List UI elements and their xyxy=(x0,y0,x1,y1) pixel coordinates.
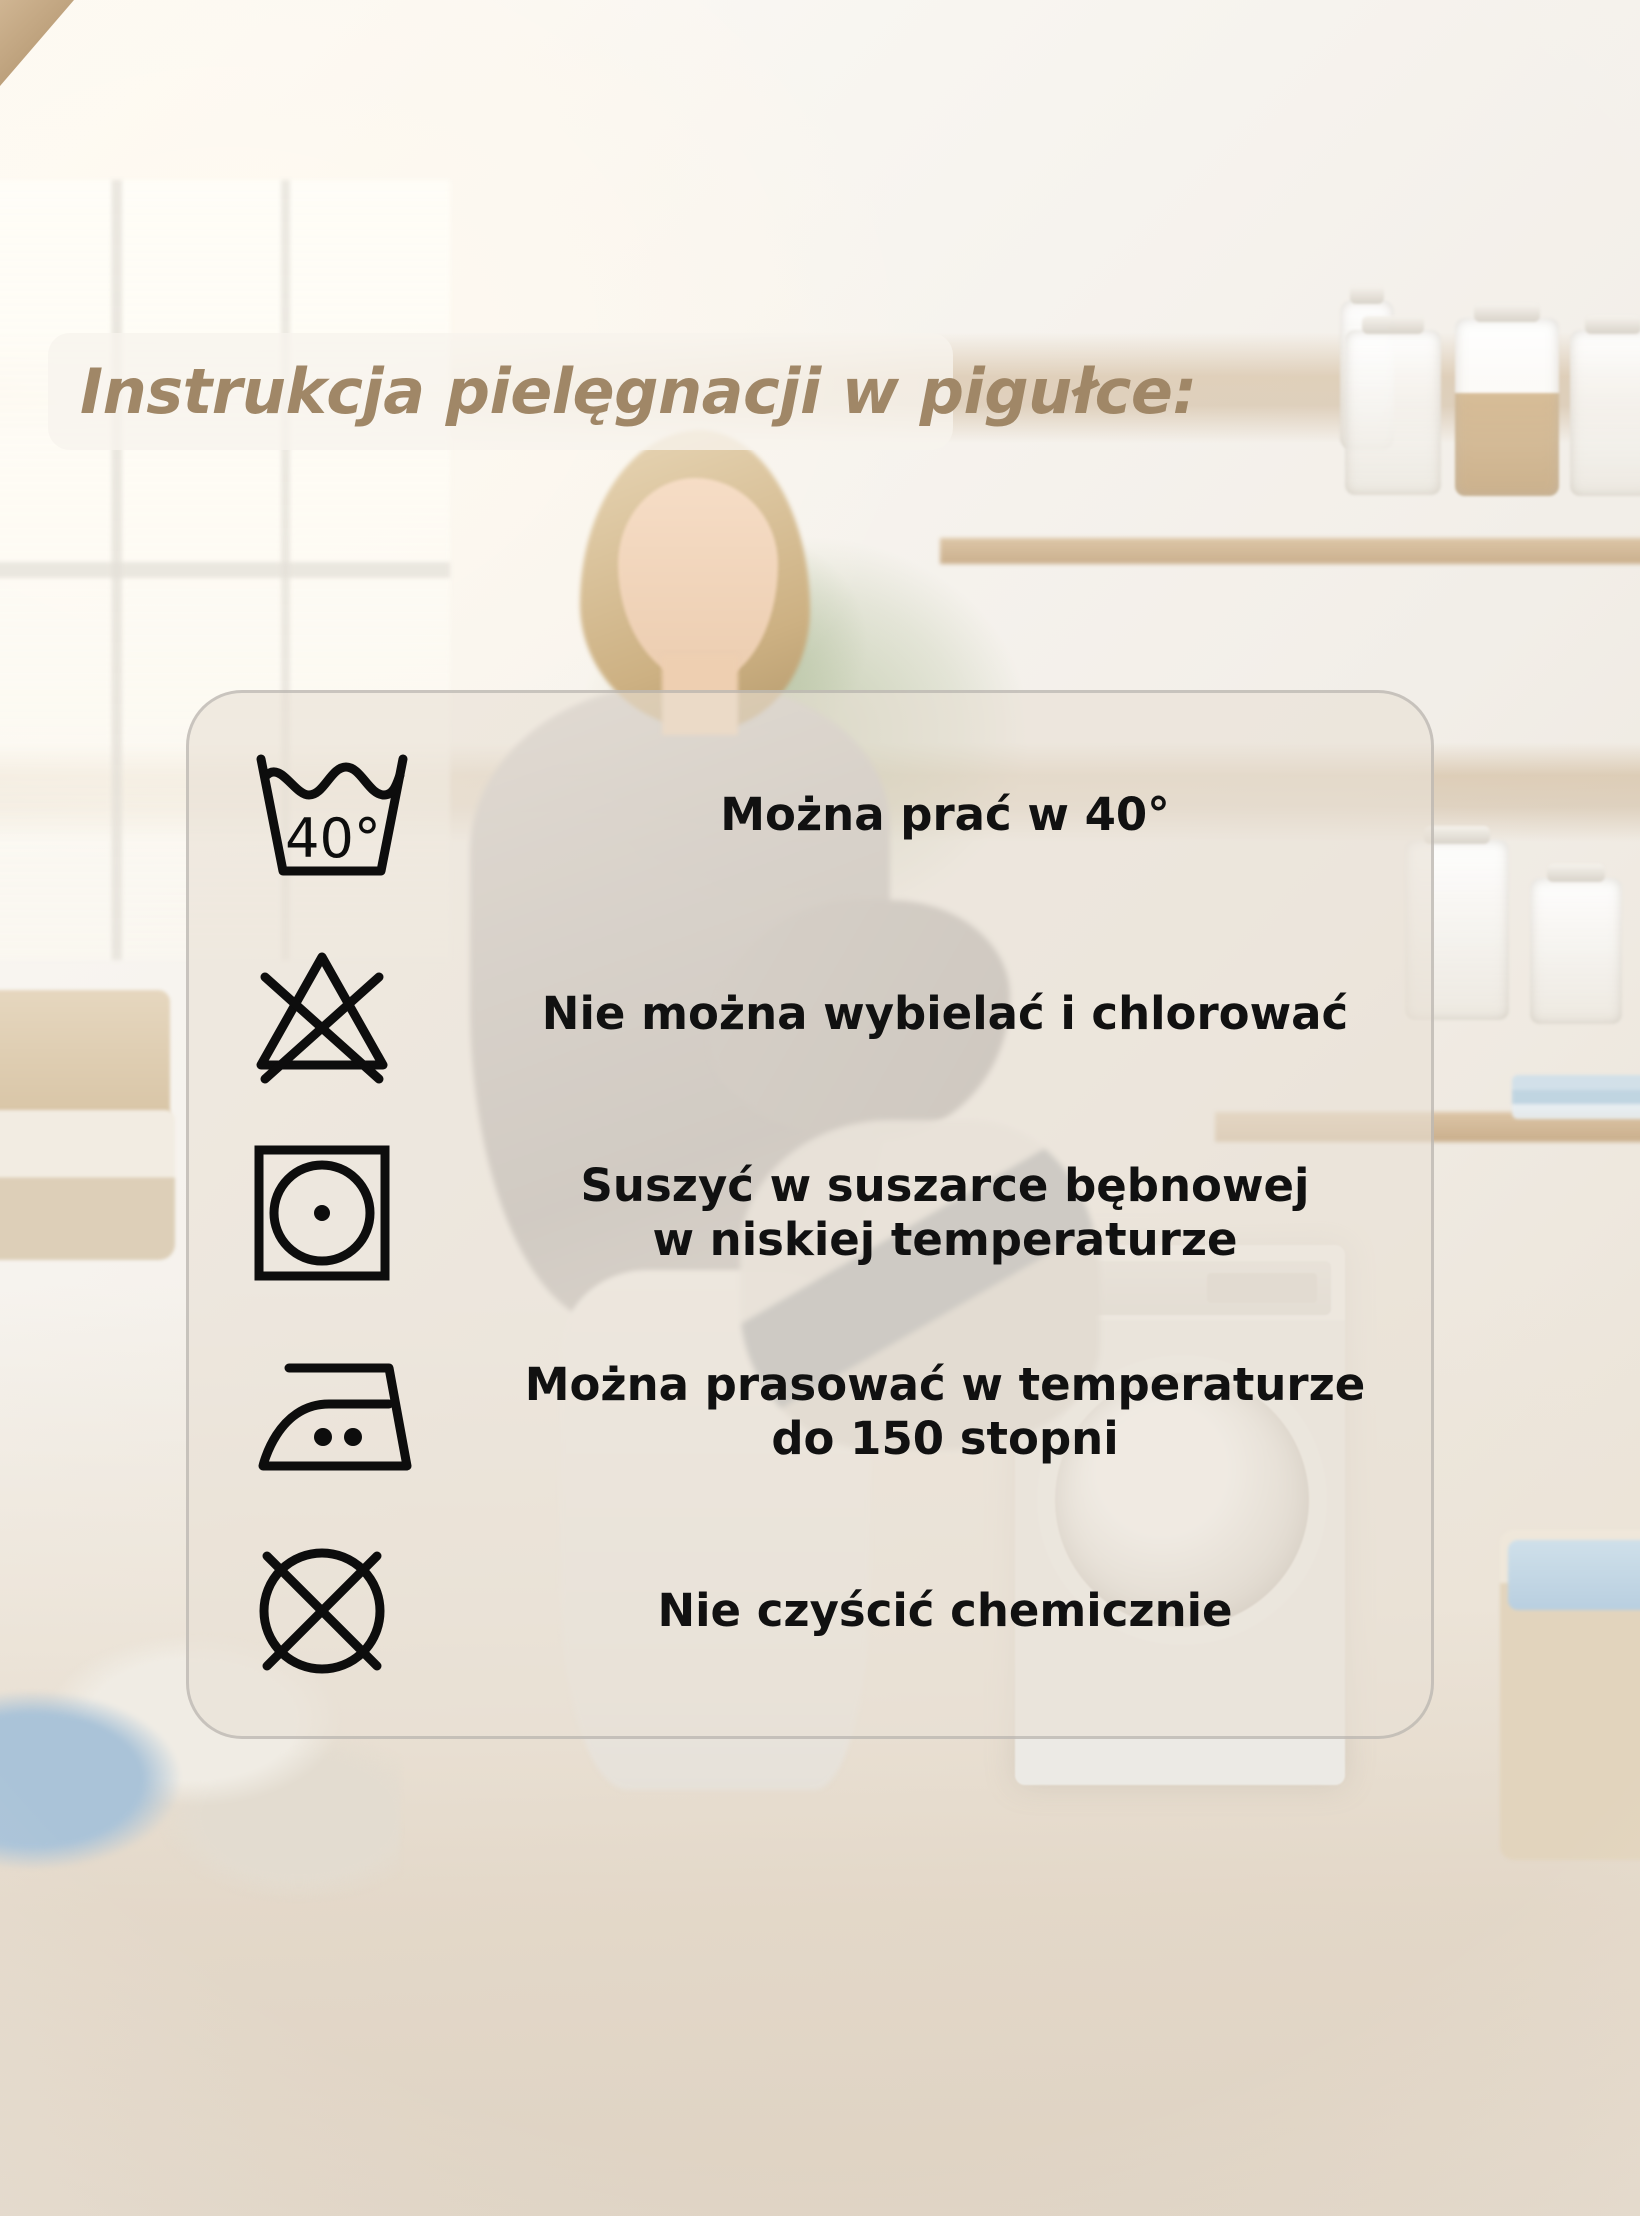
care-label-cell: Można prasować w temperaturze do 150 sto… xyxy=(499,1358,1391,1464)
care-icon-cell xyxy=(229,1138,499,1288)
tumble-dry-low-icon xyxy=(247,1138,397,1288)
care-row: Nie można wybielać i chlorować xyxy=(229,930,1391,1098)
care-icon-cell: 40° xyxy=(229,745,499,885)
care-row: Suszyć w suszarce bębnowej w niskiej tem… xyxy=(229,1129,1391,1297)
page-title: Instrukcja pielęgnacji w pigułce: xyxy=(80,355,1197,428)
storage-jar xyxy=(1455,318,1559,496)
laundry-basket-left xyxy=(0,1110,175,1260)
care-label-cell: Suszyć w suszarce bębnowej w niskiej tem… xyxy=(499,1159,1391,1265)
care-rows: 40° Można prać w 40° Nie można w xyxy=(189,693,1431,1736)
care-instructions-poster: Instrukcja pielęgnacji w pigułce: 40° Mo… xyxy=(0,0,1640,2216)
care-label: Można prać w 40° xyxy=(720,788,1169,841)
care-label-cell: Nie można wybielać i chlorować xyxy=(499,987,1391,1040)
storage-jar xyxy=(1570,330,1640,496)
folded-towels xyxy=(1512,1075,1640,1119)
care-label: Suszyć w suszarce bębnowej w niskiej tem… xyxy=(581,1159,1310,1265)
care-label: Można prasować w temperaturze do 150 sto… xyxy=(525,1358,1366,1464)
care-label: Nie czyścić chemicznie xyxy=(657,1584,1232,1637)
title-plate: Instrukcja pielęgnacji w pigułce: xyxy=(48,333,953,450)
care-symbols-panel: 40° Można prać w 40° Nie można w xyxy=(186,690,1434,1739)
storage-jar xyxy=(1530,878,1622,1024)
wash-tub-40-icon: 40° xyxy=(247,745,417,885)
care-row: Nie czyścić chemicznie xyxy=(229,1527,1391,1695)
do-not-bleach-icon xyxy=(247,939,397,1089)
care-label-cell: Nie czyścić chemicznie xyxy=(499,1584,1391,1637)
care-icon-cell xyxy=(229,1536,499,1686)
care-label-cell: Można prać w 40° xyxy=(499,788,1391,841)
care-row: 40° Można prać w 40° xyxy=(229,731,1391,899)
iron-two-dots-icon xyxy=(247,1342,427,1482)
care-icon-cell xyxy=(229,939,499,1089)
care-label: Nie można wybielać i chlorować xyxy=(542,987,1348,1040)
storage-jar xyxy=(1345,330,1441,495)
care-row: Można prasować w temperaturze do 150 sto… xyxy=(229,1328,1391,1496)
laundry-basket-right xyxy=(1500,1530,1640,1860)
wall-shelf xyxy=(940,538,1640,564)
care-icon-cell xyxy=(229,1342,499,1482)
wash-temperature-value: 40° xyxy=(285,807,381,870)
do-not-dry-clean-icon xyxy=(247,1536,397,1686)
